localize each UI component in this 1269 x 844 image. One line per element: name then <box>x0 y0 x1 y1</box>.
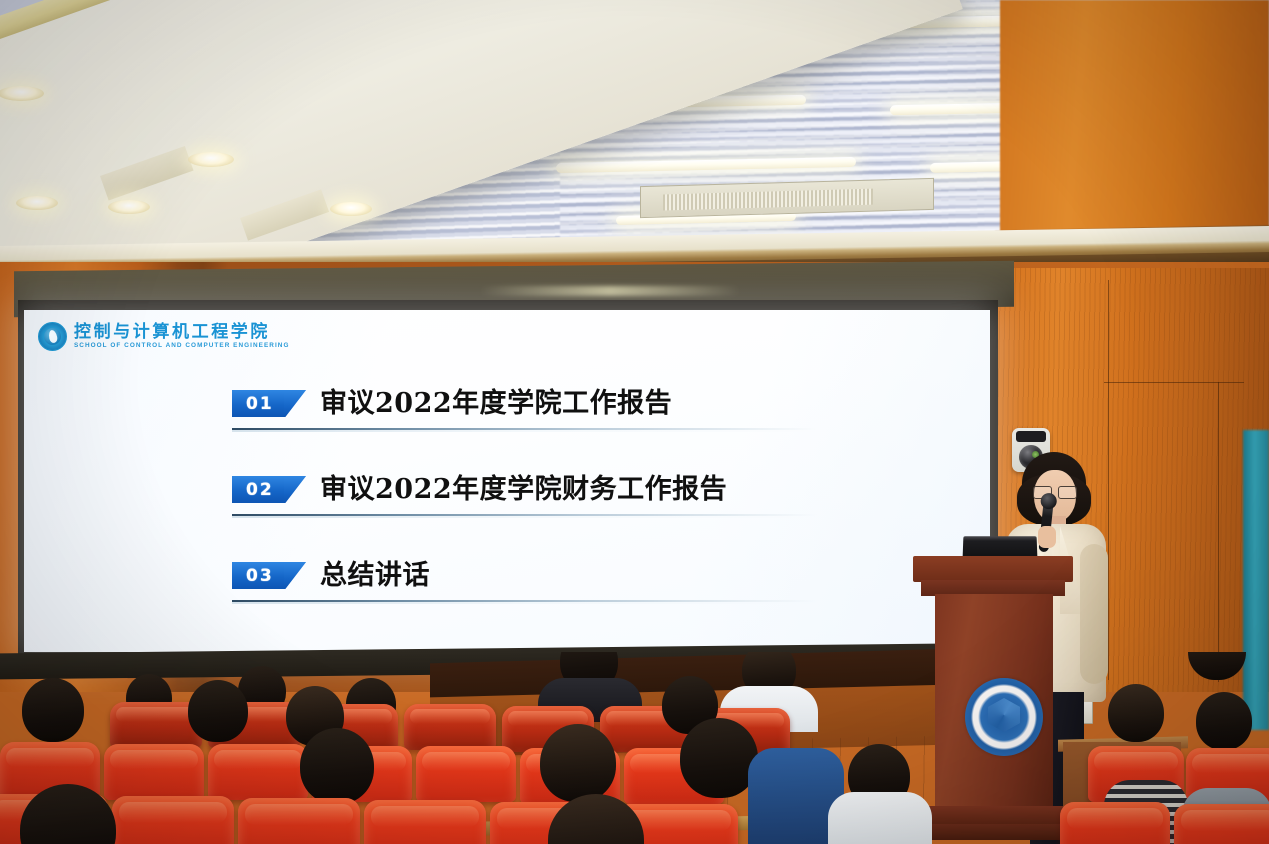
agenda-list: 01 审议2022年度学院工作报告 02 审议2022年度学院财务工作报告 03… <box>232 384 832 642</box>
seat <box>208 744 308 800</box>
slide-logo: 控制与计算机工程学院 SCHOOL OF CONTROL AND COMPUTE… <box>38 322 289 351</box>
audience-head <box>22 678 84 742</box>
recessed-downlight <box>188 152 234 167</box>
recessed-downlight <box>16 196 58 210</box>
agenda-number-badge: 02 <box>232 476 306 503</box>
recessed-downlight <box>0 86 44 101</box>
audience-seating <box>0 652 1269 844</box>
agenda-item: 03 总结讲话 <box>232 556 832 642</box>
agenda-number-badge: 01 <box>232 390 306 417</box>
seat <box>416 746 516 802</box>
panel-seam <box>1218 382 1219 682</box>
seat <box>1174 804 1269 844</box>
seat <box>364 800 486 844</box>
agenda-number: 02 <box>246 480 274 500</box>
wood-ceiling-panel <box>1000 0 1269 238</box>
projection-screen: 控制与计算机工程学院 SCHOOL OF CONTROL AND COMPUTE… <box>24 310 990 652</box>
school-emblem-icon <box>38 322 67 351</box>
recessed-downlight <box>330 202 372 216</box>
audience-head <box>300 728 374 804</box>
agenda-divider <box>232 428 817 430</box>
agenda-title: 审议2022年度学院工作报告 <box>320 381 672 420</box>
agenda-item: 01 审议2022年度学院工作报告 <box>232 384 832 470</box>
agenda-title: 审议2022年度学院财务工作报告 <box>320 467 727 506</box>
podium-top <box>913 556 1073 582</box>
audience-head <box>680 718 758 798</box>
audience-head <box>1196 692 1252 750</box>
recessed-downlight <box>108 200 150 214</box>
agenda-number: 03 <box>246 566 274 586</box>
agenda-divider <box>232 514 817 516</box>
audience-head <box>1108 684 1164 742</box>
laptop-screen <box>963 536 1038 558</box>
panel-seam <box>1104 382 1244 383</box>
agenda-title: 总结讲话 <box>320 553 430 592</box>
seat <box>1060 802 1170 844</box>
valance-light-reflection <box>480 286 740 296</box>
logo-english-name: SCHOOL OF CONTROL AND COMPUTER ENGINEERI… <box>74 343 289 349</box>
presenter-hand <box>1038 526 1056 548</box>
seat <box>112 796 234 844</box>
agenda-item: 02 审议2022年度学院财务工作报告 <box>232 470 832 556</box>
agenda-number: 01 <box>246 394 274 414</box>
audience-shoulders <box>828 792 932 844</box>
auditorium-photo: 控制与计算机工程学院 SCHOOL OF CONTROL AND COMPUTE… <box>0 0 1269 844</box>
logo-chinese-name: 控制与计算机工程学院 <box>74 324 289 341</box>
audience-head <box>540 724 616 802</box>
seat <box>104 744 204 800</box>
audience-head <box>188 680 248 742</box>
audience-head <box>1188 652 1246 680</box>
seat <box>404 704 496 750</box>
seat <box>238 798 360 844</box>
agenda-divider <box>232 600 817 602</box>
agenda-number-badge: 03 <box>232 562 306 589</box>
